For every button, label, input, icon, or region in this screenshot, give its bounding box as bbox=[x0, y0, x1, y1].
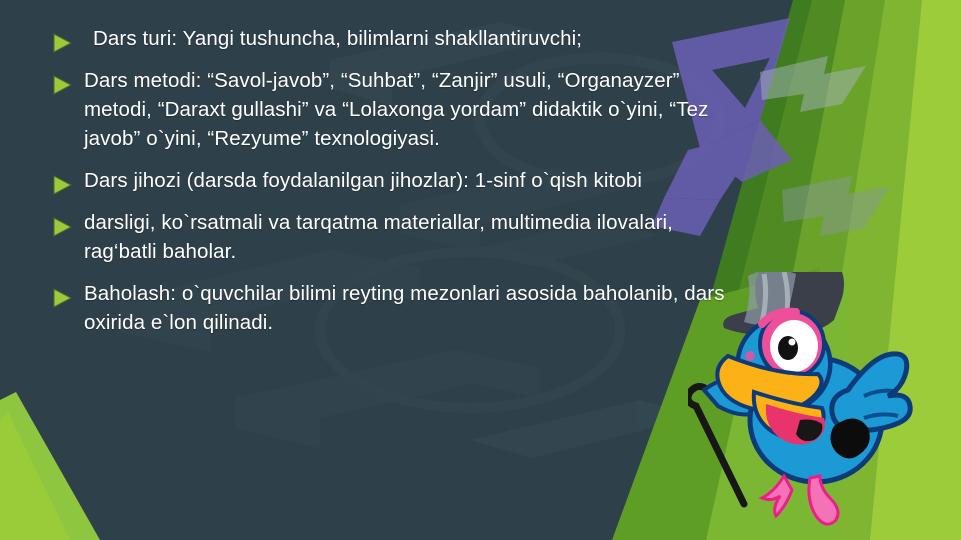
list-item-text: Baholash: o`quvchilar bilimi reyting mez… bbox=[84, 279, 742, 337]
presentation-slide: Dars turi: Yangi tushuncha, bilimlarni s… bbox=[0, 0, 961, 540]
green-triangle-bullet-icon bbox=[52, 288, 74, 308]
list-item: Dars turi: Yangi tushuncha, bilimlarni s… bbox=[52, 24, 742, 53]
list-item-text: Dars turi: Yangi tushuncha, bilimlarni s… bbox=[84, 24, 742, 53]
green-triangle-bullet-icon bbox=[52, 33, 74, 53]
green-triangle-bullet-icon bbox=[52, 175, 74, 195]
list-item-text: Dars jihozi (darsda foydalanilgan jihozl… bbox=[84, 166, 742, 195]
bird-eye bbox=[760, 311, 824, 377]
cartoon-blue-bird-character bbox=[688, 272, 928, 540]
list-item-text: Dars metodi: “Savol-javob”, “Suhbat”, “Z… bbox=[84, 66, 742, 153]
list-item: Baholash: o`quvchilar bilimi reyting mez… bbox=[52, 279, 742, 337]
list-item-text: darsligi, ko`rsatmali va tarqatma materi… bbox=[84, 208, 742, 266]
gray-arrow-watermark-lower bbox=[782, 176, 890, 236]
bullet-list: Dars turi: Yangi tushuncha, bilimlarni s… bbox=[52, 24, 742, 350]
list-item: Dars metodi: “Savol-javob”, “Suhbat”, “Z… bbox=[52, 66, 742, 153]
gray-arrow-watermark bbox=[760, 56, 866, 112]
green-corner-wedge bbox=[0, 392, 100, 540]
list-item: darsligi, ko`rsatmali va tarqatma materi… bbox=[52, 208, 742, 266]
bird-eye-secondary bbox=[745, 351, 755, 361]
green-triangle-bullet-icon bbox=[52, 75, 74, 95]
list-item: Dars jihozi (darsda foydalanilgan jihozl… bbox=[52, 166, 742, 195]
green-corner-wedge-inner bbox=[0, 412, 70, 540]
green-triangle-bullet-icon bbox=[52, 217, 74, 237]
